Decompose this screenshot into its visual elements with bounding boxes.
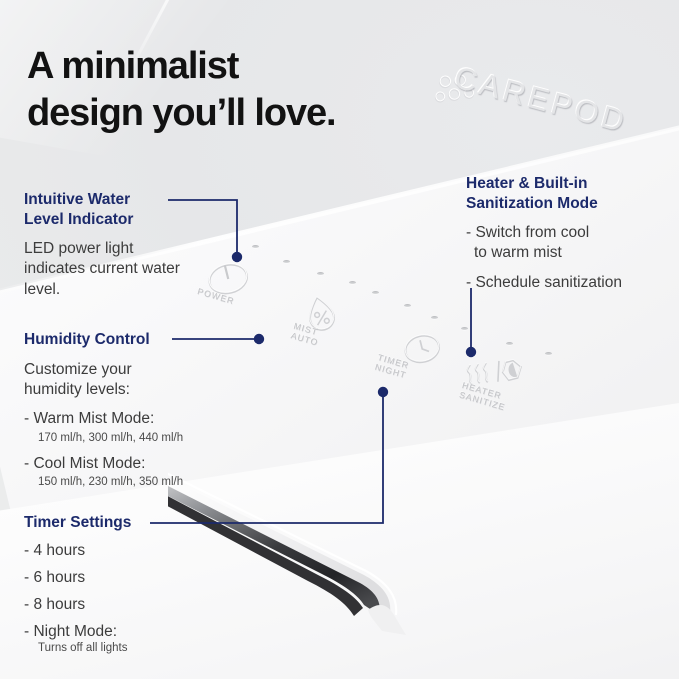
callout-humidity-control: Humidity Control Customize your humidity…: [24, 330, 239, 490]
led-indicator-dot: [431, 316, 438, 319]
cool-mist-values: 150 ml/h, 230 ml/h, 350 ml/h: [38, 475, 239, 490]
heater-sanitize-button[interactable]: HEATER SANITIZE: [462, 356, 530, 401]
led-indicator-dot: [372, 291, 379, 294]
led-indicator-dot: [545, 352, 552, 355]
callout-water-level: Intuitive Water Level Indicator LED powe…: [24, 190, 184, 300]
led-indicator-dot: [317, 272, 324, 275]
led-indicator-dot: [404, 304, 411, 307]
callout-water-level-title: Intuitive Water Level Indicator: [24, 190, 184, 230]
callout-humidity-body: Customize your humidity levels:: [24, 360, 174, 401]
timer-item: - 4 hours: [24, 542, 224, 560]
callout-heater-sanitization: Heater & Built-in Sanitization Mode - Sw…: [466, 174, 666, 293]
callout-heater-title: Heater & Built-in Sanitization Mode: [466, 174, 666, 214]
timer-item: - Night Mode:: [24, 623, 224, 641]
callout-timer-title: Timer Settings: [24, 513, 224, 533]
connector-dot-timer: [378, 387, 388, 397]
callout-humidity-title: Humidity Control: [24, 330, 239, 350]
night-mode-sub: Turns off all lights: [38, 641, 224, 656]
warm-mist-label: - Warm Mist Mode:: [24, 409, 239, 430]
connector-dot-humidity: [254, 334, 264, 344]
timer-night-button[interactable]: TIMER NIGHT: [398, 328, 446, 375]
timer-item: - 8 hours: [24, 596, 224, 614]
led-indicator-dot: [461, 327, 468, 330]
heater-item: to warm mist: [474, 243, 666, 263]
cool-mist-label: - Cool Mist Mode:: [24, 454, 239, 475]
power-button[interactable]: POWER: [203, 255, 253, 306]
mist-auto-button[interactable]: MIST AUTO: [300, 293, 342, 342]
callout-timer-settings: Timer Settings - 4 hours - 6 hours - 8 h…: [24, 513, 224, 656]
led-indicator-dot: [349, 281, 356, 284]
led-indicator-dot: [506, 342, 513, 345]
heater-item: - Schedule sanitization: [466, 273, 666, 293]
timer-item: - 6 hours: [24, 569, 224, 587]
humidity-mode-warm: - Warm Mist Mode: 170 ml/h, 300 ml/h, 44…: [24, 409, 239, 446]
warm-mist-values: 170 ml/h, 300 ml/h, 440 ml/h: [38, 431, 239, 446]
humidity-mode-cool: - Cool Mist Mode: 150 ml/h, 230 ml/h, 35…: [24, 454, 239, 491]
infographic-canvas: CAREPOD A minimalist design you’ll love.: [0, 0, 679, 679]
heater-item: - Switch from cool: [466, 223, 666, 243]
led-indicator-dot: [283, 260, 290, 263]
led-indicator-dot: [252, 245, 259, 248]
callout-water-level-body: LED power light indicates current water …: [24, 239, 184, 301]
